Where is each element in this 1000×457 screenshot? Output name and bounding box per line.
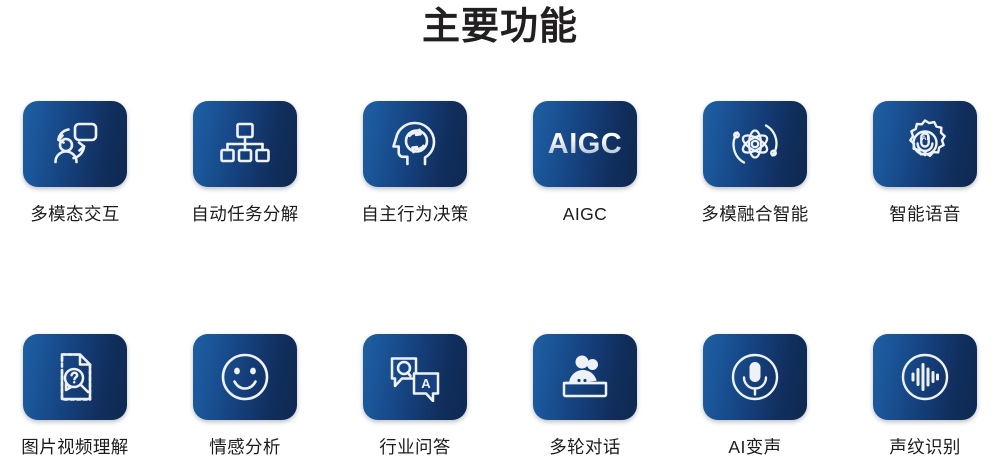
page-title: 主要功能: [0, 2, 1000, 52]
feature-label: 图片视频理解: [21, 437, 128, 457]
feature-label: 自主行为决策: [361, 204, 468, 224]
feature-label: 智能语音: [889, 204, 961, 224]
feature-label: AIGC: [563, 204, 607, 224]
feature-tile[interactable]: [873, 334, 977, 420]
feature-item-voiceprint-recognition[interactable]: 声纹识别: [873, 334, 977, 457]
svg-text:A: A: [421, 376, 431, 391]
feature-item-autonomous-decision[interactable]: 自主行为决策: [363, 101, 467, 224]
atom-orbit-icon: [728, 118, 782, 170]
feature-item-image-video-understanding[interactable]: 图片视频理解: [23, 334, 127, 457]
feature-tile[interactable]: [193, 101, 297, 187]
gear-microphone-ai-icon: AI: [899, 118, 951, 170]
feature-label: 行业问答: [379, 437, 451, 457]
feature-item-multi-turn-dialogue[interactable]: 多轮对话: [533, 334, 637, 457]
feature-item-multimodal-fusion[interactable]: 多模融合智能: [703, 101, 807, 224]
smiley-face-icon: [219, 351, 271, 403]
feature-item-ai-voice-changer[interactable]: AI变声: [703, 334, 807, 457]
microphone-circle-icon: [729, 351, 781, 403]
feature-tile[interactable]: [23, 334, 127, 420]
feature-item-sentiment-analysis[interactable]: 情感分析: [193, 334, 297, 457]
document-magnifier-question-icon: [51, 351, 99, 403]
feature-item-aigc[interactable]: AIGC AIGC: [533, 101, 637, 224]
feature-tile[interactable]: [703, 334, 807, 420]
feature-tile[interactable]: AIGC: [533, 101, 637, 187]
feature-label: 自动任务分解: [191, 204, 298, 224]
voiceprint-waveform-circle-icon: [899, 351, 951, 403]
feature-label: AI变声: [728, 437, 781, 457]
feature-label: 多轮对话: [549, 437, 621, 457]
feature-tile[interactable]: [23, 101, 127, 187]
svg-text:AI: AI: [922, 135, 929, 142]
feature-item-smart-voice[interactable]: AI 智能语音: [873, 101, 977, 224]
aigc-text-icon: AIGC: [548, 130, 623, 159]
people-at-table-icon: [558, 353, 612, 401]
qa-speech-bubbles-icon: A: [388, 352, 442, 402]
feature-label: 情感分析: [209, 437, 281, 457]
feature-item-multimodal-interaction[interactable]: 多模态交互: [23, 101, 127, 224]
feature-tile[interactable]: [703, 101, 807, 187]
feature-item-task-decomposition[interactable]: 自动任务分解: [193, 101, 297, 224]
feature-grid: 多模态交互: [0, 101, 1000, 457]
hierarchy-tree-icon: [219, 120, 271, 168]
feature-tile[interactable]: [363, 101, 467, 187]
feature-label: 声纹识别: [889, 437, 961, 457]
feature-tile[interactable]: AI: [873, 101, 977, 187]
person-speech-bubble-sync-icon: [48, 119, 102, 169]
feature-row-2: 图片视频理解 情感分析: [0, 334, 1000, 457]
main-features-page: 主要功能: [0, 0, 1000, 447]
feature-item-industry-qa[interactable]: A 行业问答: [363, 334, 467, 457]
head-cycle-arrows-icon: [391, 119, 439, 169]
feature-tile[interactable]: [533, 334, 637, 420]
feature-tile[interactable]: [193, 334, 297, 420]
feature-tile[interactable]: A: [363, 334, 467, 420]
feature-row-1: 多模态交互: [0, 101, 1000, 224]
feature-label: 多模融合智能: [701, 204, 808, 224]
feature-label: 多模态交互: [30, 204, 120, 224]
